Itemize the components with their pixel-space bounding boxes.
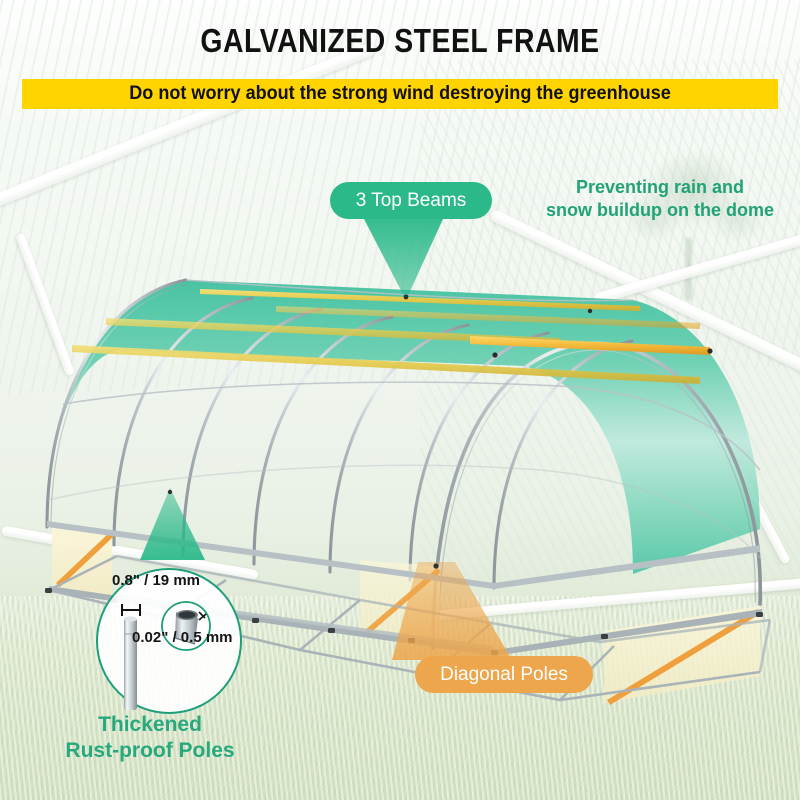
joint — [168, 490, 172, 494]
foot — [45, 588, 52, 593]
cone-detail-circle — [140, 488, 205, 560]
pole-top-cap — [124, 616, 137, 621]
foot — [328, 628, 335, 633]
beam-fixing — [707, 348, 712, 353]
infographic-page: GALVANIZED STEEL FRAME Do not worry abou… — [0, 0, 800, 800]
note-rain-snow-line1: Preventing rain and — [531, 176, 789, 199]
beam-fixing — [492, 352, 497, 357]
callout-diagonal-poles[interactable]: Diagonal Poles — [415, 656, 593, 693]
caption-line1: Thickened — [20, 712, 280, 738]
subtitle-banner: Do not worry about the strong wind destr… — [22, 79, 778, 109]
note-rain-snow-line2: snow buildup on the dome — [531, 199, 789, 222]
callout-top-beams-label: 3 Top Beams — [356, 190, 467, 212]
note-rain-snow: Preventing rain and snow buildup on the … — [531, 176, 789, 222]
pole-diameter-label: 0.8" / 19 mm — [112, 572, 200, 589]
page-title: GALVANIZED STEEL FRAME — [56, 22, 744, 60]
pole-wall-thickness-label: 0.02" / 0.5 mm — [132, 629, 233, 646]
foot — [252, 618, 259, 623]
subtitle-banner-text: Do not worry about the strong wind destr… — [129, 83, 671, 105]
foot — [601, 634, 608, 639]
joint — [404, 295, 409, 300]
diameter-bracket — [122, 604, 140, 616]
callout-top-beams[interactable]: 3 Top Beams — [330, 182, 492, 219]
ground-rail-right-end — [760, 620, 770, 672]
joint — [433, 563, 438, 568]
beam-fixing — [588, 309, 592, 313]
foot — [756, 612, 763, 617]
caption-rust-proof-poles: Thickened Rust-proof Poles — [20, 712, 280, 764]
cone-top-beams — [364, 219, 443, 300]
caption-line2: Rust-proof Poles — [20, 738, 280, 764]
callout-diagonal-poles-label: Diagonal Poles — [440, 664, 568, 686]
